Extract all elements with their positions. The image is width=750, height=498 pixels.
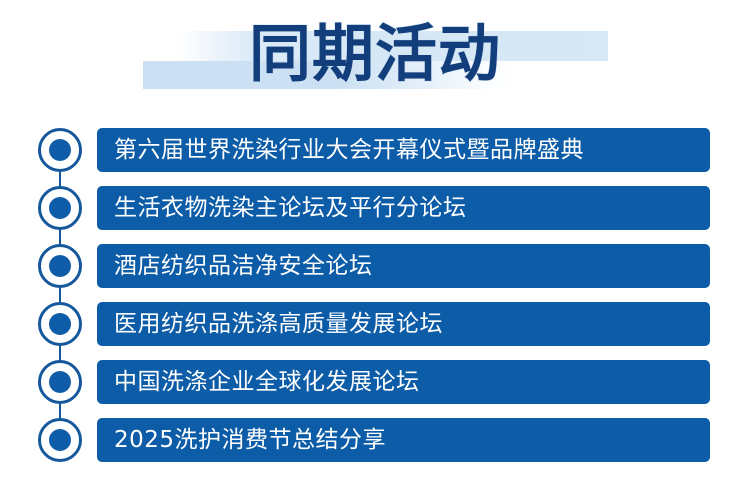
timeline-marker-4 [38,302,82,346]
timeline-row-6[interactable]: 2025洗护消费节总结分享 [0,418,750,462]
timeline-label-3: 酒店纺织品洁净安全论坛 [114,244,373,288]
timeline-label-6: 2025洗护消费节总结分享 [114,418,386,462]
timeline-row-1[interactable]: 第六届世界洗染行业大会开幕仪式暨品牌盛典 [0,128,750,172]
timeline-marker-dot-1 [49,139,71,161]
timeline-bar-6[interactable]: 2025洗护消费节总结分享 [97,418,710,462]
timeline-row-4[interactable]: 医用纺织品洗涤高质量发展论坛 [0,302,750,346]
timeline-bar-4[interactable]: 医用纺织品洗涤高质量发展论坛 [97,302,710,346]
timeline-label-4: 医用纺织品洗涤高质量发展论坛 [114,302,443,346]
timeline-label-2: 生活衣物洗染主论坛及平行分论坛 [114,186,467,230]
timeline-marker-2 [38,186,82,230]
timeline-label-5: 中国洗涤企业全球化发展论坛 [114,360,420,404]
timeline-marker-1 [38,128,82,172]
timeline-bar-2[interactable]: 生活衣物洗染主论坛及平行分论坛 [97,186,710,230]
timeline-marker-5 [38,360,82,404]
timeline-row-5[interactable]: 中国洗涤企业全球化发展论坛 [0,360,750,404]
timeline-bar-3[interactable]: 酒店纺织品洁净安全论坛 [97,244,710,288]
timeline-bar-1[interactable]: 第六届世界洗染行业大会开幕仪式暨品牌盛典 [97,128,710,172]
page-title: 同期活动 [0,14,750,94]
timeline-row-3[interactable]: 酒店纺织品洁净安全论坛 [0,244,750,288]
timeline-marker-dot-5 [49,371,71,393]
timeline-marker-3 [38,244,82,288]
timeline-marker-dot-4 [49,313,71,335]
timeline-marker-6 [38,418,82,462]
timeline: 第六届世界洗染行业大会开幕仪式暨品牌盛典 生活衣物洗染主论坛及平行分论坛 酒店纺… [0,112,750,484]
title-block: 同期活动 [0,0,750,108]
timeline-marker-dot-6 [49,429,71,451]
timeline-label-1: 第六届世界洗染行业大会开幕仪式暨品牌盛典 [114,128,584,172]
timeline-marker-dot-3 [49,255,71,277]
timeline-marker-dot-2 [49,197,71,219]
poster-canvas: 同期活动 第六届世界洗染行业大会开幕仪式暨品牌盛典 生活衣物洗染主论坛及平行分论… [0,0,750,498]
timeline-bar-5[interactable]: 中国洗涤企业全球化发展论坛 [97,360,710,404]
timeline-row-2[interactable]: 生活衣物洗染主论坛及平行分论坛 [0,186,750,230]
